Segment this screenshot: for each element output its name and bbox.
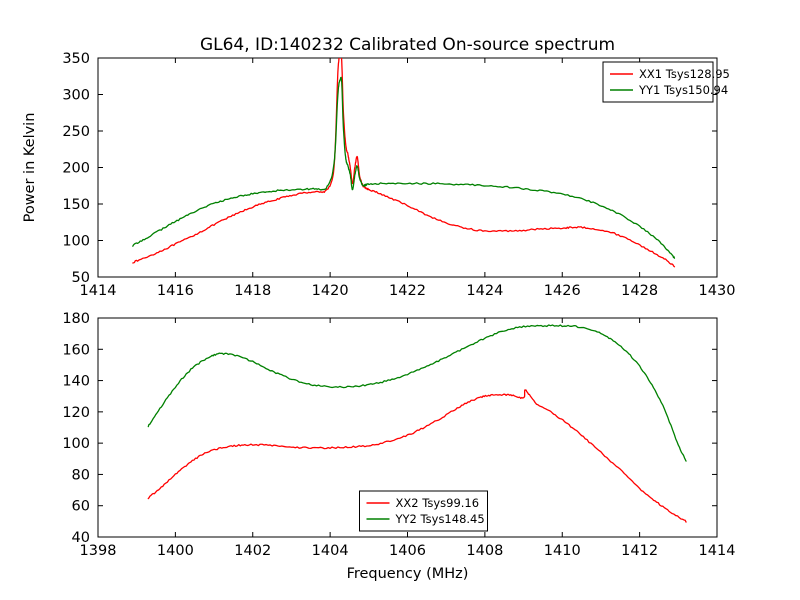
legend-label: XX2 Tsys99.16 <box>396 496 480 510</box>
x-tick-label: 1418 <box>234 283 271 299</box>
y-axis-label: Power in Kelvin <box>22 113 38 223</box>
x-tick-label: 1426 <box>544 283 581 299</box>
x-tick-label: 1430 <box>699 283 736 299</box>
y-tick-label: 100 <box>62 436 90 452</box>
x-tick-label: 1416 <box>157 283 194 299</box>
legend-label: YY2 Tsys148.45 <box>395 512 485 526</box>
legend-bottom: XX2 Tsys99.16YY2 Tsys148.45 <box>360 491 488 531</box>
y-tick-label: 250 <box>62 124 90 140</box>
x-tick-label: 1410 <box>544 543 581 559</box>
x-tick-label: 1400 <box>157 543 194 559</box>
series-line-yy2 <box>148 325 686 461</box>
x-tick-label: 1420 <box>312 283 349 299</box>
y-tick-label: 80 <box>72 467 90 483</box>
y-tick-label: 200 <box>62 161 90 177</box>
x-tick-label: 1404 <box>312 543 349 559</box>
y-tick-label: 150 <box>62 197 90 213</box>
y-tick-label: 180 <box>62 311 90 327</box>
y-tick-label: 120 <box>62 405 90 421</box>
y-tick-label: 300 <box>62 88 90 104</box>
y-tick-label: 350 <box>62 51 90 67</box>
series-group-top <box>133 55 675 267</box>
y-tick-label: 160 <box>62 342 90 358</box>
y-tick-label: 140 <box>62 374 90 390</box>
panel-bottom: 1398140014021404140614081410141214144060… <box>62 311 735 559</box>
y-tick-label: 100 <box>62 234 90 250</box>
series-line-xx1 <box>133 55 675 267</box>
x-tick-label: 1412 <box>621 543 658 559</box>
spectrum-figure: GL64, ID:140232 Calibrated On-source spe… <box>0 0 800 600</box>
x-tick-label: 1422 <box>389 283 426 299</box>
x-tick-label: 1406 <box>389 543 426 559</box>
y-tick-label: 40 <box>72 530 90 546</box>
x-tick-label: 1414 <box>699 543 736 559</box>
x-tick-label: 1408 <box>466 543 503 559</box>
panel-top: 1414141614181420142214241426142814305010… <box>62 51 735 299</box>
legend-label: YY1 Tsys150.94 <box>638 83 728 97</box>
figure-title: GL64, ID:140232 Calibrated On-source spe… <box>200 35 615 55</box>
x-tick-label: 1402 <box>234 543 271 559</box>
legend-label: XX1 Tsys128.95 <box>639 67 730 81</box>
x-axis-label: Frequency (MHz) <box>347 566 469 582</box>
series-line-yy1 <box>133 77 675 258</box>
y-tick-label: 60 <box>72 499 90 515</box>
y-tick-label: 50 <box>72 270 90 286</box>
legend-top: XX1 Tsys128.95YY1 Tsys150.94 <box>603 62 730 102</box>
x-tick-label: 1424 <box>466 283 503 299</box>
plot-canvas: GL64, ID:140232 Calibrated On-source spe… <box>0 0 800 600</box>
x-tick-label: 1428 <box>621 283 658 299</box>
